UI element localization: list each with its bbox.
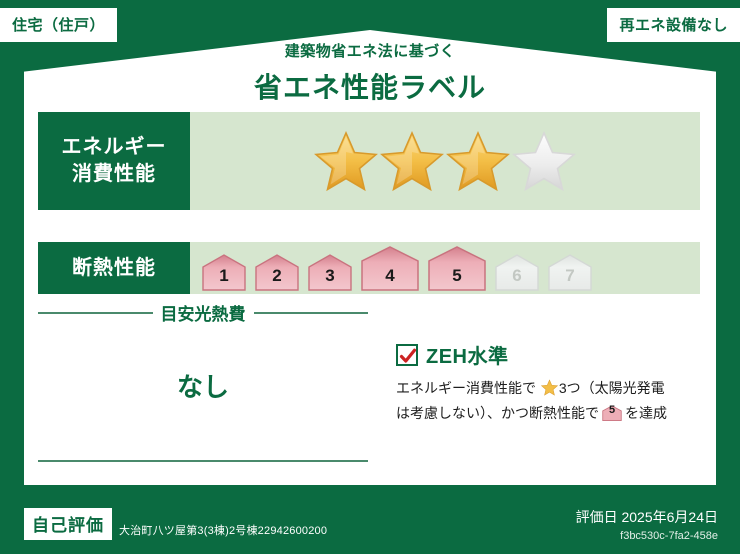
- building-type-badge: 住宅（住戸）: [0, 8, 117, 42]
- property-name: 大治町八ツ屋第3(3棟)2号棟22942600200: [119, 522, 327, 540]
- zeh-heading-row: ZEH水準: [396, 340, 708, 369]
- star-icon: [380, 130, 444, 192]
- insulation-level-2: 2: [253, 253, 301, 291]
- zeh-title: ZEH水準: [426, 340, 509, 369]
- self-evaluation-badge: 自己評価: [24, 508, 112, 540]
- energy-performance-row: エネルギー 消費性能: [38, 112, 700, 210]
- house-icon: 5: [601, 405, 623, 421]
- insulation-level-value: 7: [546, 266, 594, 286]
- utility-cost-bottom-rule: [38, 460, 368, 462]
- utility-cost-value: なし: [38, 367, 368, 404]
- footer-left: 自己評価 大治町八ツ屋第3(3棟)2号棟22942600200: [24, 508, 327, 540]
- energy-performance-label: 住宅（住戸） 再エネ設備なし 建築物省エネ法に基づく 省エネ性能ラベル エネルギ…: [0, 0, 740, 554]
- zeh-desc-part2: は考慮しない）、かつ断熱性能で: [396, 405, 599, 421]
- zeh-desc-badge: 5: [601, 401, 623, 420]
- title-main: 省エネ性能ラベル: [0, 66, 740, 106]
- insulation-level-value: 5: [426, 266, 488, 286]
- zeh-desc-part3: を達成: [625, 405, 667, 421]
- label-title-block: 建築物省エネ法に基づく 省エネ性能ラベル: [0, 40, 740, 106]
- energy-performance-label: エネルギー 消費性能: [38, 112, 190, 210]
- footer-right: 評価日 2025年6月24日 f3bc530c-7fa2-458e: [576, 507, 718, 542]
- energy-performance-value: [190, 112, 700, 210]
- insulation-scale: 1 2 3 4: [200, 245, 594, 291]
- insulation-level-5: 5: [426, 245, 488, 291]
- star-icon: [446, 130, 510, 192]
- title-subtitle: 建築物省エネ法に基づく: [0, 40, 740, 61]
- footer: 自己評価 大治町八ツ屋第3(3棟)2号棟22942600200 評価日 2025…: [0, 492, 740, 554]
- insulation-level-value: 3: [306, 266, 354, 286]
- energy-label-line2: 消費性能: [72, 161, 156, 188]
- rule-right: [254, 312, 369, 314]
- renewable-energy-badge: 再エネ設備なし: [607, 8, 740, 42]
- insulation-level-7: 7: [546, 253, 594, 291]
- zeh-section: ZEH水準 エネルギー消費性能で 3つ（太陽光発電 は考慮しない）、かつ断熱性能…: [396, 340, 708, 425]
- insulation-level-6: 6: [493, 253, 541, 291]
- rule-left: [38, 312, 153, 314]
- insulation-level-3: 3: [306, 253, 354, 291]
- insulation-performance-value: 1 2 3 4: [190, 242, 700, 294]
- insulation-level-value: 4: [359, 266, 421, 286]
- utility-cost-section: 目安光熱費 なし: [38, 300, 368, 404]
- insulation-level-value: 6: [493, 266, 541, 286]
- check-icon: [396, 344, 418, 366]
- star-icon: [314, 130, 378, 192]
- insulation-level-value: 1: [200, 266, 248, 286]
- energy-label-line1: エネルギー: [62, 134, 167, 161]
- evaluation-date: 評価日 2025年6月24日: [576, 507, 718, 527]
- insulation-level-1: 1: [200, 253, 248, 291]
- insulation-level-4: 4: [359, 245, 421, 291]
- evaluation-id: f3bc530c-7fa2-458e: [576, 530, 718, 542]
- zeh-description: エネルギー消費性能で 3つ（太陽光発電 は考慮しない）、かつ断熱性能で 5 を達…: [396, 376, 708, 425]
- insulation-performance-row: 断熱性能 1 2: [38, 242, 700, 294]
- star-icon: [541, 379, 558, 396]
- star-icon-empty: [512, 130, 576, 192]
- utility-cost-heading: 目安光熱費: [161, 300, 246, 325]
- star-rating: [314, 130, 576, 192]
- insulation-level-value: 2: [253, 266, 301, 286]
- zeh-desc-star-count: 3つ（太陽光発電: [559, 380, 665, 396]
- zeh-desc-part1: エネルギー消費性能で: [396, 380, 536, 396]
- utility-cost-heading-row: 目安光熱費: [38, 300, 368, 325]
- insulation-performance-label: 断熱性能: [38, 242, 190, 294]
